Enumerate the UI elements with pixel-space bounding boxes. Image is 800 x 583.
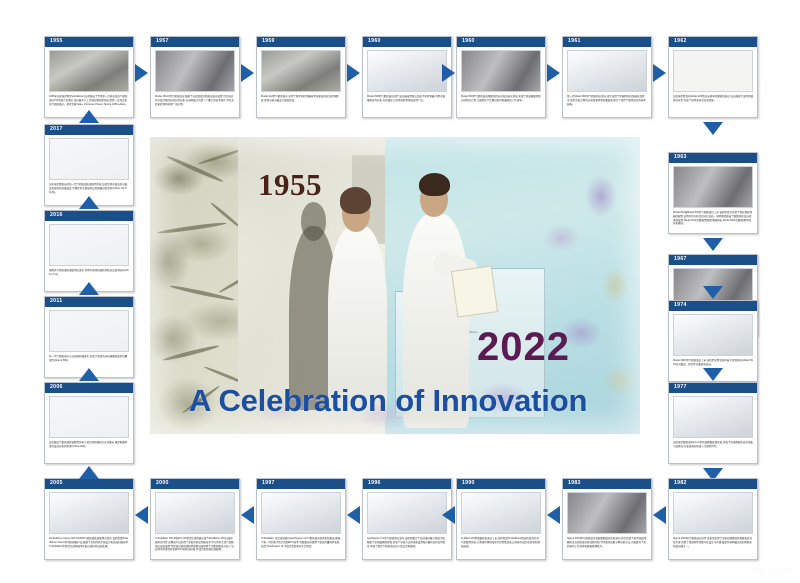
card-caption: TurboMatrix HS 40和HS 110型顶空进样器以及TurboMat… [155,537,235,552]
card-year: 1957 [151,37,239,47]
arrow-down-icon [703,286,723,299]
card-photo [49,396,129,438]
timeline-card[interactable]: 1960 Model 800型气相色谱仪配套的积分仪和记录仪系统,实现了色谱峰面… [456,36,546,118]
card-year: 1963 [669,153,757,163]
timeline-card[interactable]: 2017 珀金埃尔默推出全新一代气相色谱质谱联用系统,该机型具有更高的灵敏度和更… [44,124,134,206]
arrow-down-icon [703,238,723,251]
card-caption: Sigma 2000型气相色谱仪问世,该机型采用了全新的键盘操作面板和荧光显示屏… [673,537,753,548]
card-caption: 1955年珀金埃尔默(PerkinElmer)公司推出了世界第一台商业化的气相色… [49,95,129,106]
arrow-right-icon [135,64,148,82]
timeline-card[interactable]: 2005 PerkinElmer Clarus 600 GC/MS气相色谱质谱联… [44,478,134,560]
card-year: 1996 [363,479,451,489]
card-year: 1961 [563,37,651,47]
card-caption: Model 3920型气相色谱仪上市,该机型采用全新的电子控制系统,Model … [673,359,753,367]
timeline-card[interactable]: 1960 Model 800型气相色谱仪问世,该仪器采用双火焰离子化检测器,可用… [362,36,452,118]
card-photo [261,50,341,92]
arrow-right-icon [653,64,666,82]
card-photo [673,314,753,356]
timeline-card[interactable]: 1962 珀金埃尔默发布Model 226型高分辨率毛细管色谱仪,该仪器首次采用… [668,36,758,118]
card-photo [155,50,235,92]
arrow-left-icon [135,506,148,524]
card-caption: PerkinElmer Clarus 600 GC/MS气相色谱质谱联用仪发布,… [49,537,129,548]
card-year: 1977 [669,383,757,393]
hero-end-year: 2022 [477,325,570,370]
card-photo [461,50,541,92]
card-year: 1962 [669,37,757,47]
card-year: 1997 [257,479,345,489]
watermark-text: 仪器信息网 [750,566,792,577]
card-year: 1974 [669,301,757,311]
arrow-left-icon [547,506,560,524]
timeline-card[interactable]: 1982 Sigma 2000型气相色谱仪问世,该机型采用了全新的键盘操作面板和… [668,478,758,560]
card-caption: TurboMatrix 顶空进样器与AutoSystem XL气相色谱仪联用系统… [261,537,341,548]
card-photo [461,492,541,534]
card-photo [673,396,753,438]
hero-start-year: 1955 [258,167,322,203]
arrow-down-icon [703,122,723,135]
card-photo [261,492,341,534]
card-year: 2016 [45,211,133,221]
arrow-left-icon [347,506,360,524]
card-photo [49,492,129,534]
card-year: 2011 [45,297,133,307]
card-year: 2005 [45,479,133,489]
card-caption: Model 154-D型气相色谱仪,配备了自动温度控制和记录仪装置,可完成对复杂… [155,95,235,106]
arrow-right-icon [241,64,254,82]
timeline-card[interactable]: 1959 Model 212型气相色谱仪,采用了新型的检测器技术和更高的柱温控制… [256,36,346,118]
timeline-card[interactable]: 1957 Model 154-D型气相色谱仪,配备了自动温度控制和记录仪装置,可… [150,36,240,118]
card-year: 2017 [45,125,133,135]
timeline-card[interactable]: 2006 高灵敏度气相色谱质谱联用系统与顶空进样器组合方案推出,满足痕量挥发性成… [44,382,134,464]
timeline-card[interactable]: 2016 便携式气相色谱质谱联用仪发布,可用于现场快速检测和应急监测分析(Tor… [44,210,134,292]
card-caption: Model 800型气相色谱仪配套的积分仪和记录仪系统,实现了色谱峰面积的自动积… [461,95,541,103]
arrow-up-icon [79,466,99,479]
timeline-card[interactable]: 2011 新一代气相色谱仪与自动进样器发布,实现了更高的分析通量和更好的重现性(… [44,296,134,378]
card-caption: 便携式气相色谱质谱联用仪发布,可用于现场快速检测和应急监测分析(Torion T… [49,269,129,277]
card-year: 2006 [45,383,133,393]
arrow-up-icon [79,282,99,295]
card-year: 1960 [363,37,451,47]
card-photo [567,492,647,534]
arrow-left-icon [653,506,666,524]
arrow-right-icon [442,64,455,82]
card-photo [49,138,129,180]
card-photo [49,224,129,266]
arrow-up-icon [79,110,99,123]
timeline-card[interactable]: 1961 第一台Model 900型气相色谱仪发布,首次采用了可编程的柱温箱升温… [562,36,652,118]
timeline-card[interactable]: 1997 TurboMatrix 顶空进样器与AutoSystem XL气相色谱… [256,478,346,560]
card-caption: 高灵敏度气相色谱质谱联用系统与顶空进样器组合方案推出,满足痕量挥发性成分分析的需… [49,441,129,449]
card-year: 1960 [457,37,545,47]
hero-title: A Celebration of Innovation [189,383,587,419]
arrow-right-icon [347,64,360,82]
watermark: 仪器信息网 [736,566,792,577]
timeline-card[interactable]: 1963 Model 810和Model 820型气相色谱仪上市,该机型首次实现… [668,152,758,234]
card-caption: Model 212型气相色谱仪,采用了新型的检测器技术和更高的柱温控制精度,使得… [261,95,341,103]
card-photo [49,50,129,92]
card-caption: 珀金埃尔默发布Model 226型高分辨率毛细管色谱仪,该仪器首次采用毛细管柱技… [673,95,753,103]
timeline-card[interactable]: 1977 珀金埃尔默推出Sigma 1型色谱数据处理系统,实现了色谱数据的自动采… [668,382,758,464]
card-caption: Model 800型气相色谱仪问世,该仪器采用双火焰离子化检测器,可用于痕量组分… [367,95,447,103]
card-caption: AutoSystem XL型气相色谱仪发布,该机型整合了自动进样器与色谱主机,配… [367,537,447,548]
card-caption: 新一代气相色谱仪与自动进样器发布,实现了更高的分析通量和更好的重现性(Claru… [49,355,129,363]
card-year: 1959 [257,37,345,47]
card-caption: 珀金埃尔默推出全新一代气相色谱质谱联用系统,该机型具有更高的灵敏度和更快的扫描速… [49,183,129,194]
card-photo [567,50,647,92]
timeline-card[interactable]: 1990 Q-Mass 910型四极杆质谱仪上市,该机型是PerkinElmer… [456,478,546,560]
watermark-circle-logo-icon [736,566,747,577]
card-caption: Sigma 2000型气相色谱仪和配套数据站系统发布,首次实现了基于微处理器的全… [567,537,647,548]
card-photo [673,166,753,208]
card-photo [49,310,129,352]
arrow-right-icon [547,64,560,82]
timeline-infographic: P PerkinElmer 1955 2022 A Celebration of… [0,0,800,583]
card-caption: 珀金埃尔默推出Sigma 1型色谱数据处理系统,实现了色谱数据的自动采集与处理,… [673,441,753,449]
card-year: 1967 [669,255,757,265]
timeline-card[interactable]: 1955 1955年珀金埃尔默(PerkinElmer)公司推出了世界第一台商业… [44,36,134,118]
card-year: 2000 [151,479,239,489]
card-photo [673,50,753,92]
timeline-card[interactable]: 1983 Sigma 2000型气相色谱仪和配套数据站系统发布,首次实现了基于微… [562,478,652,560]
card-photo [367,492,447,534]
card-caption: 第一台Model 900型气相色谱仪发布,首次采用了可编程的柱温箱升温程序,使复… [567,95,647,106]
card-year: 1990 [457,479,545,489]
card-year: 1982 [669,479,757,489]
card-caption: Q-Mass 910型四极杆质谱仪上市,该机型是PerkinElmer推出的首款… [461,537,541,548]
card-year: 1983 [563,479,651,489]
timeline-card[interactable]: 1996 AutoSystem XL型气相色谱仪发布,该机型整合了自动进样器与色… [362,478,452,560]
arrow-up-icon [79,368,99,381]
timeline-card[interactable]: 2000 TurboMatrix HS 40和HS 110型顶空进样器以及Tur… [150,478,240,560]
card-photo [155,492,235,534]
arrow-up-icon [79,196,99,209]
arrow-down-icon [703,368,723,381]
card-photo [367,50,447,92]
arrow-left-icon [241,506,254,524]
card-caption: Model 810和Model 820型气相色谱仪上市,该机型首次实现了双柱双检… [673,211,753,226]
arrow-left-icon [442,506,455,524]
card-photo [673,492,753,534]
card-year: 1955 [45,37,133,47]
